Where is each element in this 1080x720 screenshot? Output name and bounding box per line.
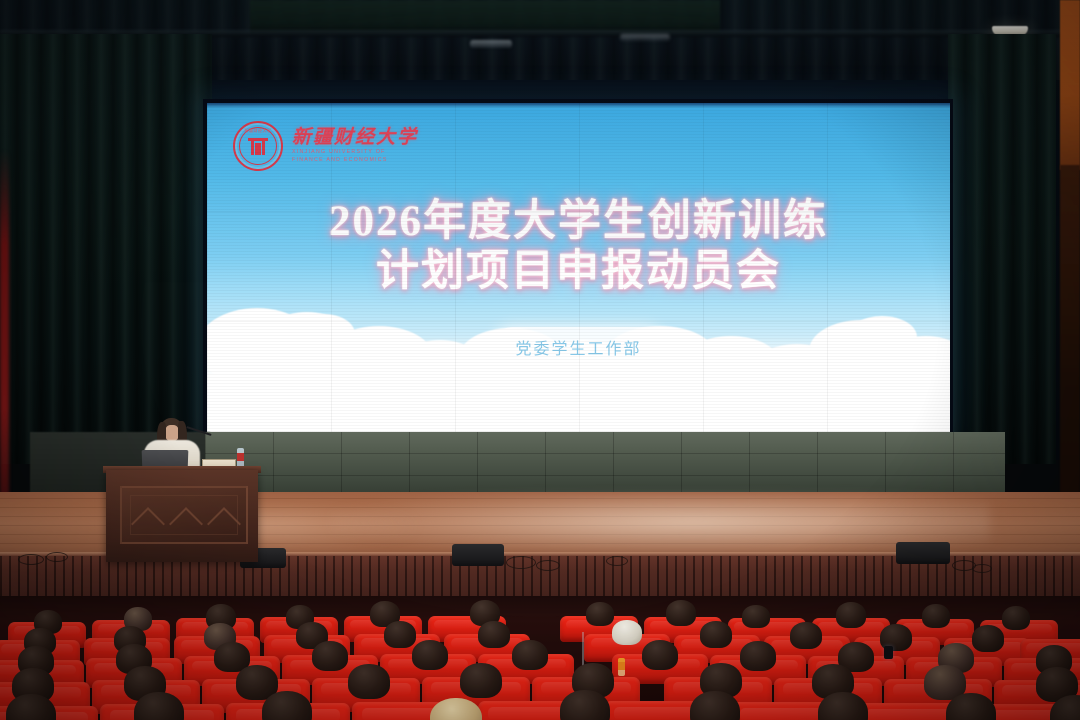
attendee-head: [972, 625, 1004, 652]
stage-curtain-left: [0, 34, 212, 464]
ceiling-light-icon: [470, 40, 512, 48]
stage-cable: [18, 554, 44, 565]
podium: [106, 470, 258, 562]
attendee-head: [742, 605, 770, 628]
slide-department-badge: 党委学生工作部: [491, 327, 665, 368]
curtain-valance-green: [250, 0, 720, 34]
mobile-phone: [884, 646, 893, 659]
stage-curtain-right: [948, 34, 1056, 464]
ceiling-light-icon: [620, 34, 670, 41]
auditorium-scene: 新疆财经大学 新疆财经大学 XINJIANG UNIVERSITY OF FIN…: [0, 0, 1080, 720]
attendee-head: [348, 664, 390, 699]
attendee-head: [478, 621, 510, 648]
attendee-head: [612, 620, 642, 645]
attendee-head: [836, 602, 866, 628]
institution-name-cn: 新疆财经大学: [292, 128, 418, 148]
stage-cable: [972, 564, 992, 573]
institution-logo-lockup: 新疆财经大学 新疆财经大学 XINJIANG UNIVERSITY OF FIN…: [233, 121, 418, 171]
attendee-head: [740, 641, 776, 671]
attendee-head: [460, 663, 502, 698]
led-screen: 新疆财经大学 新疆财经大学 XINJIANG UNIVERSITY OF FIN…: [207, 103, 950, 432]
podium-chevron: [169, 507, 203, 541]
attendee-head: [412, 640, 448, 670]
cloud-puff: [847, 316, 917, 358]
cloud-puff: [227, 314, 301, 360]
attendee-head: [312, 641, 348, 671]
podium-front-panel: [120, 486, 248, 544]
attendee-head: [1002, 606, 1030, 630]
attendee-head: [922, 604, 950, 628]
under-screen-wall-panels: [205, 432, 1005, 498]
slide-title-line-2: 计划项目申报动员会: [207, 247, 950, 297]
stage-cable: [536, 560, 560, 571]
institution-name-block: 新疆财经大学 XINJIANG UNIVERSITY OF FINANCE AN…: [292, 128, 418, 164]
floor-monitor-speaker: [452, 544, 504, 566]
attendee-head: [700, 621, 732, 648]
audience-seating-area: [0, 596, 1080, 720]
seal-gate-glyph: [248, 138, 268, 155]
attendee-head: [384, 621, 416, 648]
attendee-head: [790, 622, 822, 649]
presenter-face: [165, 425, 179, 441]
attendee-head: [642, 640, 678, 670]
slide-title-line-1: 2026年度大学生创新训练: [329, 198, 828, 245]
attendee-head: [666, 600, 696, 626]
floor-monitor-speaker: [896, 542, 950, 564]
screen-top-edge: [207, 103, 950, 108]
podium-chevron: [131, 507, 165, 541]
seal-arc-text: 新疆财经大学: [245, 128, 272, 134]
stage-floor-glare: [330, 494, 990, 556]
stage-cable: [606, 556, 628, 566]
attendee-head: [512, 640, 548, 670]
stage-cable: [46, 552, 68, 562]
university-seal-icon: 新疆财经大学: [233, 121, 283, 171]
institution-name-en-1: XINJIANG UNIVERSITY OF: [292, 148, 418, 156]
attendee-head: [586, 602, 614, 626]
cloud-puff: [293, 314, 355, 354]
wall-amber-strip: [1060, 0, 1080, 170]
drink-bottle: [618, 658, 625, 676]
slide-title: 2026年度大学生创新训练 计划项目申报动员会: [207, 197, 950, 297]
stage-cable: [506, 556, 536, 569]
podium-chevron: [207, 507, 241, 541]
institution-name-en-2: FINANCE AND ECONOMICS: [292, 156, 418, 164]
